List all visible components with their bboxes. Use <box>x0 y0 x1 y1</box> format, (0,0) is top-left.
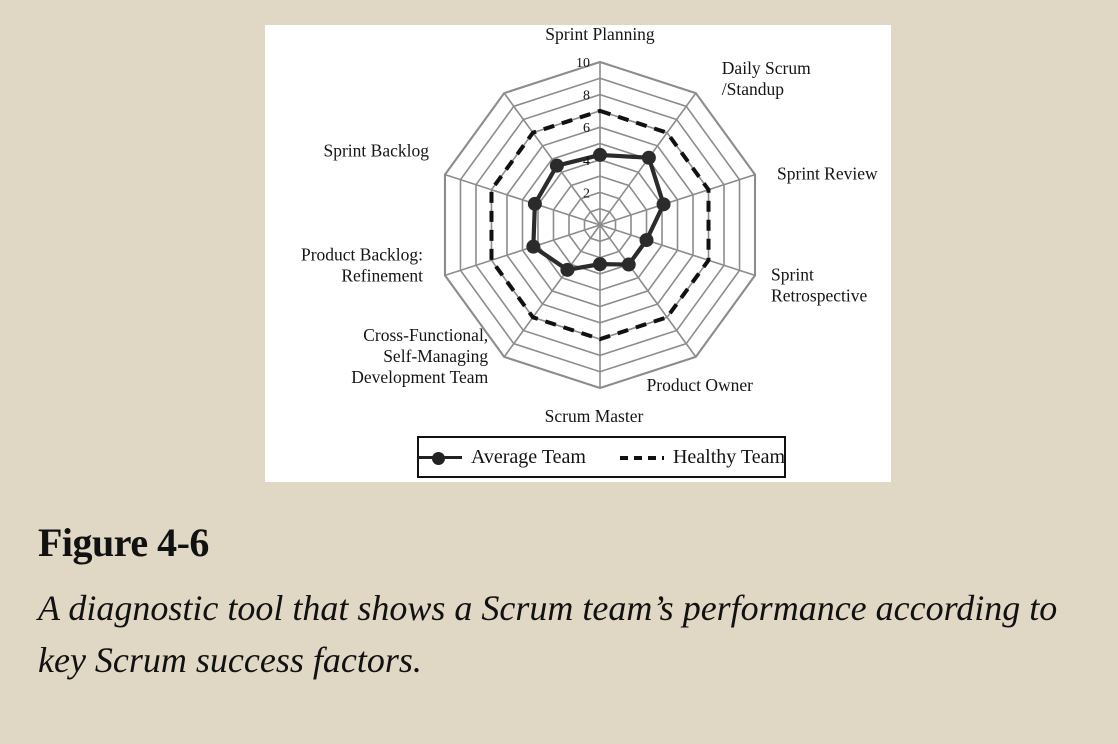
legend-label-average-team: Average Team <box>471 446 586 469</box>
legend-label-healthy-team: Healthy Team <box>673 446 785 469</box>
radar-chart: 246810 Sprint PlanningDaily Scrum/Standu… <box>265 25 891 482</box>
radial-tick-label: 2 <box>583 186 590 201</box>
figure-number: Figure 4-6 <box>38 522 1088 564</box>
radial-tick-label: 4 <box>583 154 590 169</box>
legend-marker-solid-icon <box>418 450 462 464</box>
figure-caption-block: Figure 4-6 A diagnostic tool that shows … <box>38 522 1088 686</box>
figure-panel: 246810 Sprint PlanningDaily Scrum/Standu… <box>265 25 891 482</box>
series-data-point <box>657 197 671 211</box>
series-data-point <box>593 257 607 271</box>
legend-item-average-team[interactable]: Average Team <box>418 446 586 469</box>
chart-legend: Average Team Healthy Team <box>417 436 786 478</box>
category-label: Product Backlog:Refinement <box>301 244 423 285</box>
radar-category-labels: Sprint PlanningDaily Scrum/StandupSprint… <box>301 25 878 426</box>
series-data-point <box>528 197 542 211</box>
category-label: Product Owner <box>647 375 754 395</box>
category-label: Sprint Backlog <box>323 141 429 161</box>
radial-tick-label: 10 <box>576 56 590 71</box>
category-label: Sprint Review <box>777 164 878 184</box>
series-data-point <box>550 159 564 173</box>
radial-tick-label: 8 <box>583 89 590 104</box>
series-data-point <box>593 148 607 162</box>
series-data-point <box>642 151 656 165</box>
legend-marker-dashed-icon <box>620 450 664 464</box>
category-label: Daily Scrum/Standup <box>722 58 811 99</box>
series-data-point <box>560 263 574 277</box>
series-data-point <box>640 233 654 247</box>
category-label: Cross-Functional,Self-ManagingDevelopmen… <box>351 325 488 387</box>
category-label: SprintRetrospective <box>771 264 867 305</box>
category-label: Scrum Master <box>545 406 644 426</box>
radial-tick-label: 6 <box>583 121 590 136</box>
figure-caption-text: A diagnostic tool that shows a Scrum tea… <box>38 582 1058 686</box>
series-data-point <box>526 240 540 254</box>
series-data-point <box>622 258 636 272</box>
category-label: Sprint Planning <box>545 25 655 44</box>
grid-spoke <box>504 225 600 357</box>
legend-item-healthy-team[interactable]: Healthy Team <box>620 446 785 469</box>
